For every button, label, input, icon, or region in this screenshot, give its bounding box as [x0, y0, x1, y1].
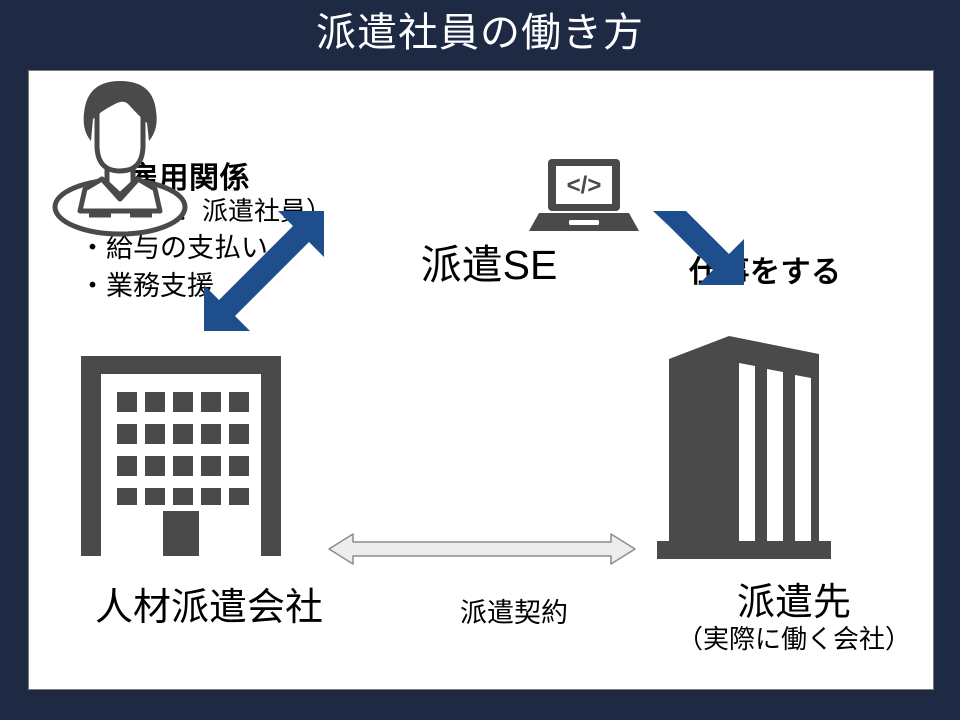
person-icon [55, 81, 185, 234]
diagram-panel: 雇用関係 （雇用形態：派遣社員） ・給与の支払い ・業務支援 派遣SE 仕事をす… [28, 70, 934, 690]
employment-relationship-arrow [204, 211, 324, 331]
code-symbol-text: </> [567, 172, 602, 199]
diagram-graphics-layer: </> [29, 71, 935, 691]
page-title: 派遣社員の働き方 [0, 8, 960, 58]
laptop-icon: </> [529, 159, 639, 231]
modern-tower-icon [657, 336, 831, 559]
assignment-arrow [653, 211, 744, 285]
dispatch-contract-arrow [329, 534, 635, 564]
office-building-icon [81, 356, 281, 556]
